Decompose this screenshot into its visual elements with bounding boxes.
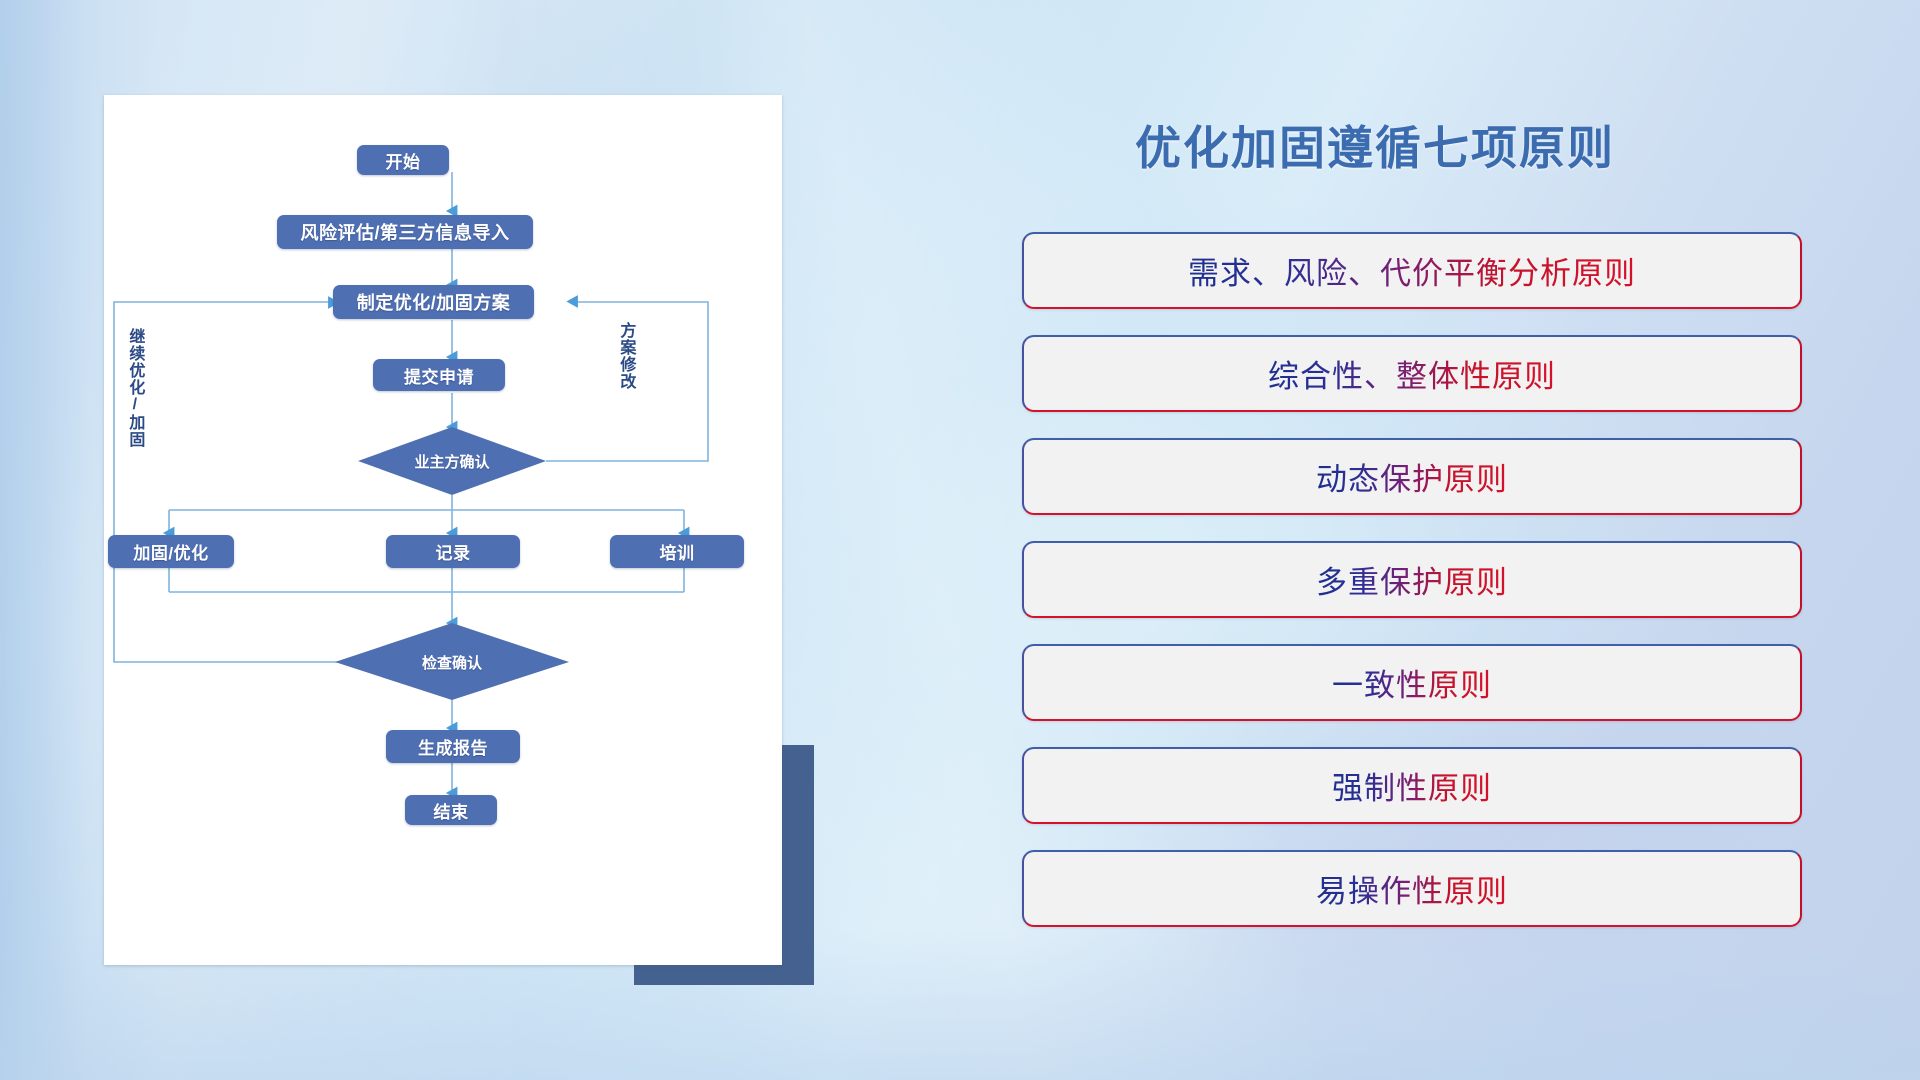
flow-node-check-confirm-label: 检查确认 [422, 652, 482, 673]
principle-item-7-label: 易操作性原则 [1316, 866, 1508, 911]
principle-item-3-label: 动态保护原则 [1316, 454, 1508, 499]
flow-node-training[interactable]: 培训 [610, 535, 744, 568]
flow-node-owner-confirm-label: 业主方确认 [414, 451, 489, 472]
principle-item-7[interactable]: 易操作性原则 [1022, 850, 1802, 927]
principle-item-1[interactable]: 需求、风险、代价平衡分析原则 [1022, 232, 1802, 309]
flow-node-check-confirm[interactable]: 检查确认 [392, 648, 512, 676]
flow-node-reinforce-optimize-label: 加固/优化 [133, 539, 208, 564]
flow-node-risk-assessment-label: 风险评估/第三方信息导入 [301, 219, 510, 245]
principle-item-5[interactable]: 一致性原则 [1022, 644, 1802, 721]
flow-node-end[interactable]: 结束 [405, 795, 497, 825]
flow-node-make-plan[interactable]: 制定优化/加固方案 [333, 285, 534, 319]
flow-node-submit-application[interactable]: 提交申请 [373, 359, 505, 391]
principle-item-2-label: 综合性、整体性原则 [1268, 351, 1556, 396]
flow-edge-label-plan-revision: 方案修改 [617, 322, 633, 390]
principle-item-2[interactable]: 综合性、整体性原则 [1022, 335, 1802, 412]
flow-node-end-label: 结束 [434, 798, 469, 823]
flow-node-generate-report[interactable]: 生成报告 [386, 730, 520, 763]
flow-node-generate-report-label: 生成报告 [418, 734, 488, 759]
principle-item-1-label: 需求、风险、代价平衡分析原则 [1188, 248, 1636, 293]
principle-item-6[interactable]: 强制性原则 [1022, 747, 1802, 824]
flow-edge-label-continue-optimize: 继续优化/加固 [126, 328, 142, 448]
slide-root: 开始 风险评估/第三方信息导入 制定优化/加固方案 提交申请 业主方确认 加固/… [0, 0, 1920, 1080]
principle-item-3[interactable]: 动态保护原则 [1022, 438, 1802, 515]
flow-node-owner-confirm[interactable]: 业主方确认 [392, 447, 512, 475]
principles-panel-title: 优化加固遵循七项原则 [1025, 112, 1725, 178]
principles-list: 需求、风险、代价平衡分析原则 综合性、整体性原则 动态保护原则 多重保护原则 一… [1022, 232, 1802, 953]
flow-node-start-label: 开始 [386, 148, 421, 173]
flow-node-risk-assessment[interactable]: 风险评估/第三方信息导入 [277, 215, 533, 249]
principle-item-4-label: 多重保护原则 [1316, 557, 1508, 602]
flow-node-training-label: 培训 [660, 539, 695, 564]
flow-node-start[interactable]: 开始 [357, 145, 449, 175]
flow-node-submit-application-label: 提交申请 [404, 363, 474, 388]
flow-node-reinforce-optimize[interactable]: 加固/优化 [108, 535, 234, 568]
principle-item-5-label: 一致性原则 [1332, 660, 1492, 705]
flow-node-make-plan-label: 制定优化/加固方案 [357, 289, 511, 315]
principle-item-6-label: 强制性原则 [1332, 763, 1492, 808]
principle-item-4[interactable]: 多重保护原则 [1022, 541, 1802, 618]
flow-node-record-label: 记录 [436, 539, 471, 564]
flow-node-record[interactable]: 记录 [386, 535, 520, 568]
flowchart-card: 开始 风险评估/第三方信息导入 制定优化/加固方案 提交申请 业主方确认 加固/… [104, 95, 782, 965]
